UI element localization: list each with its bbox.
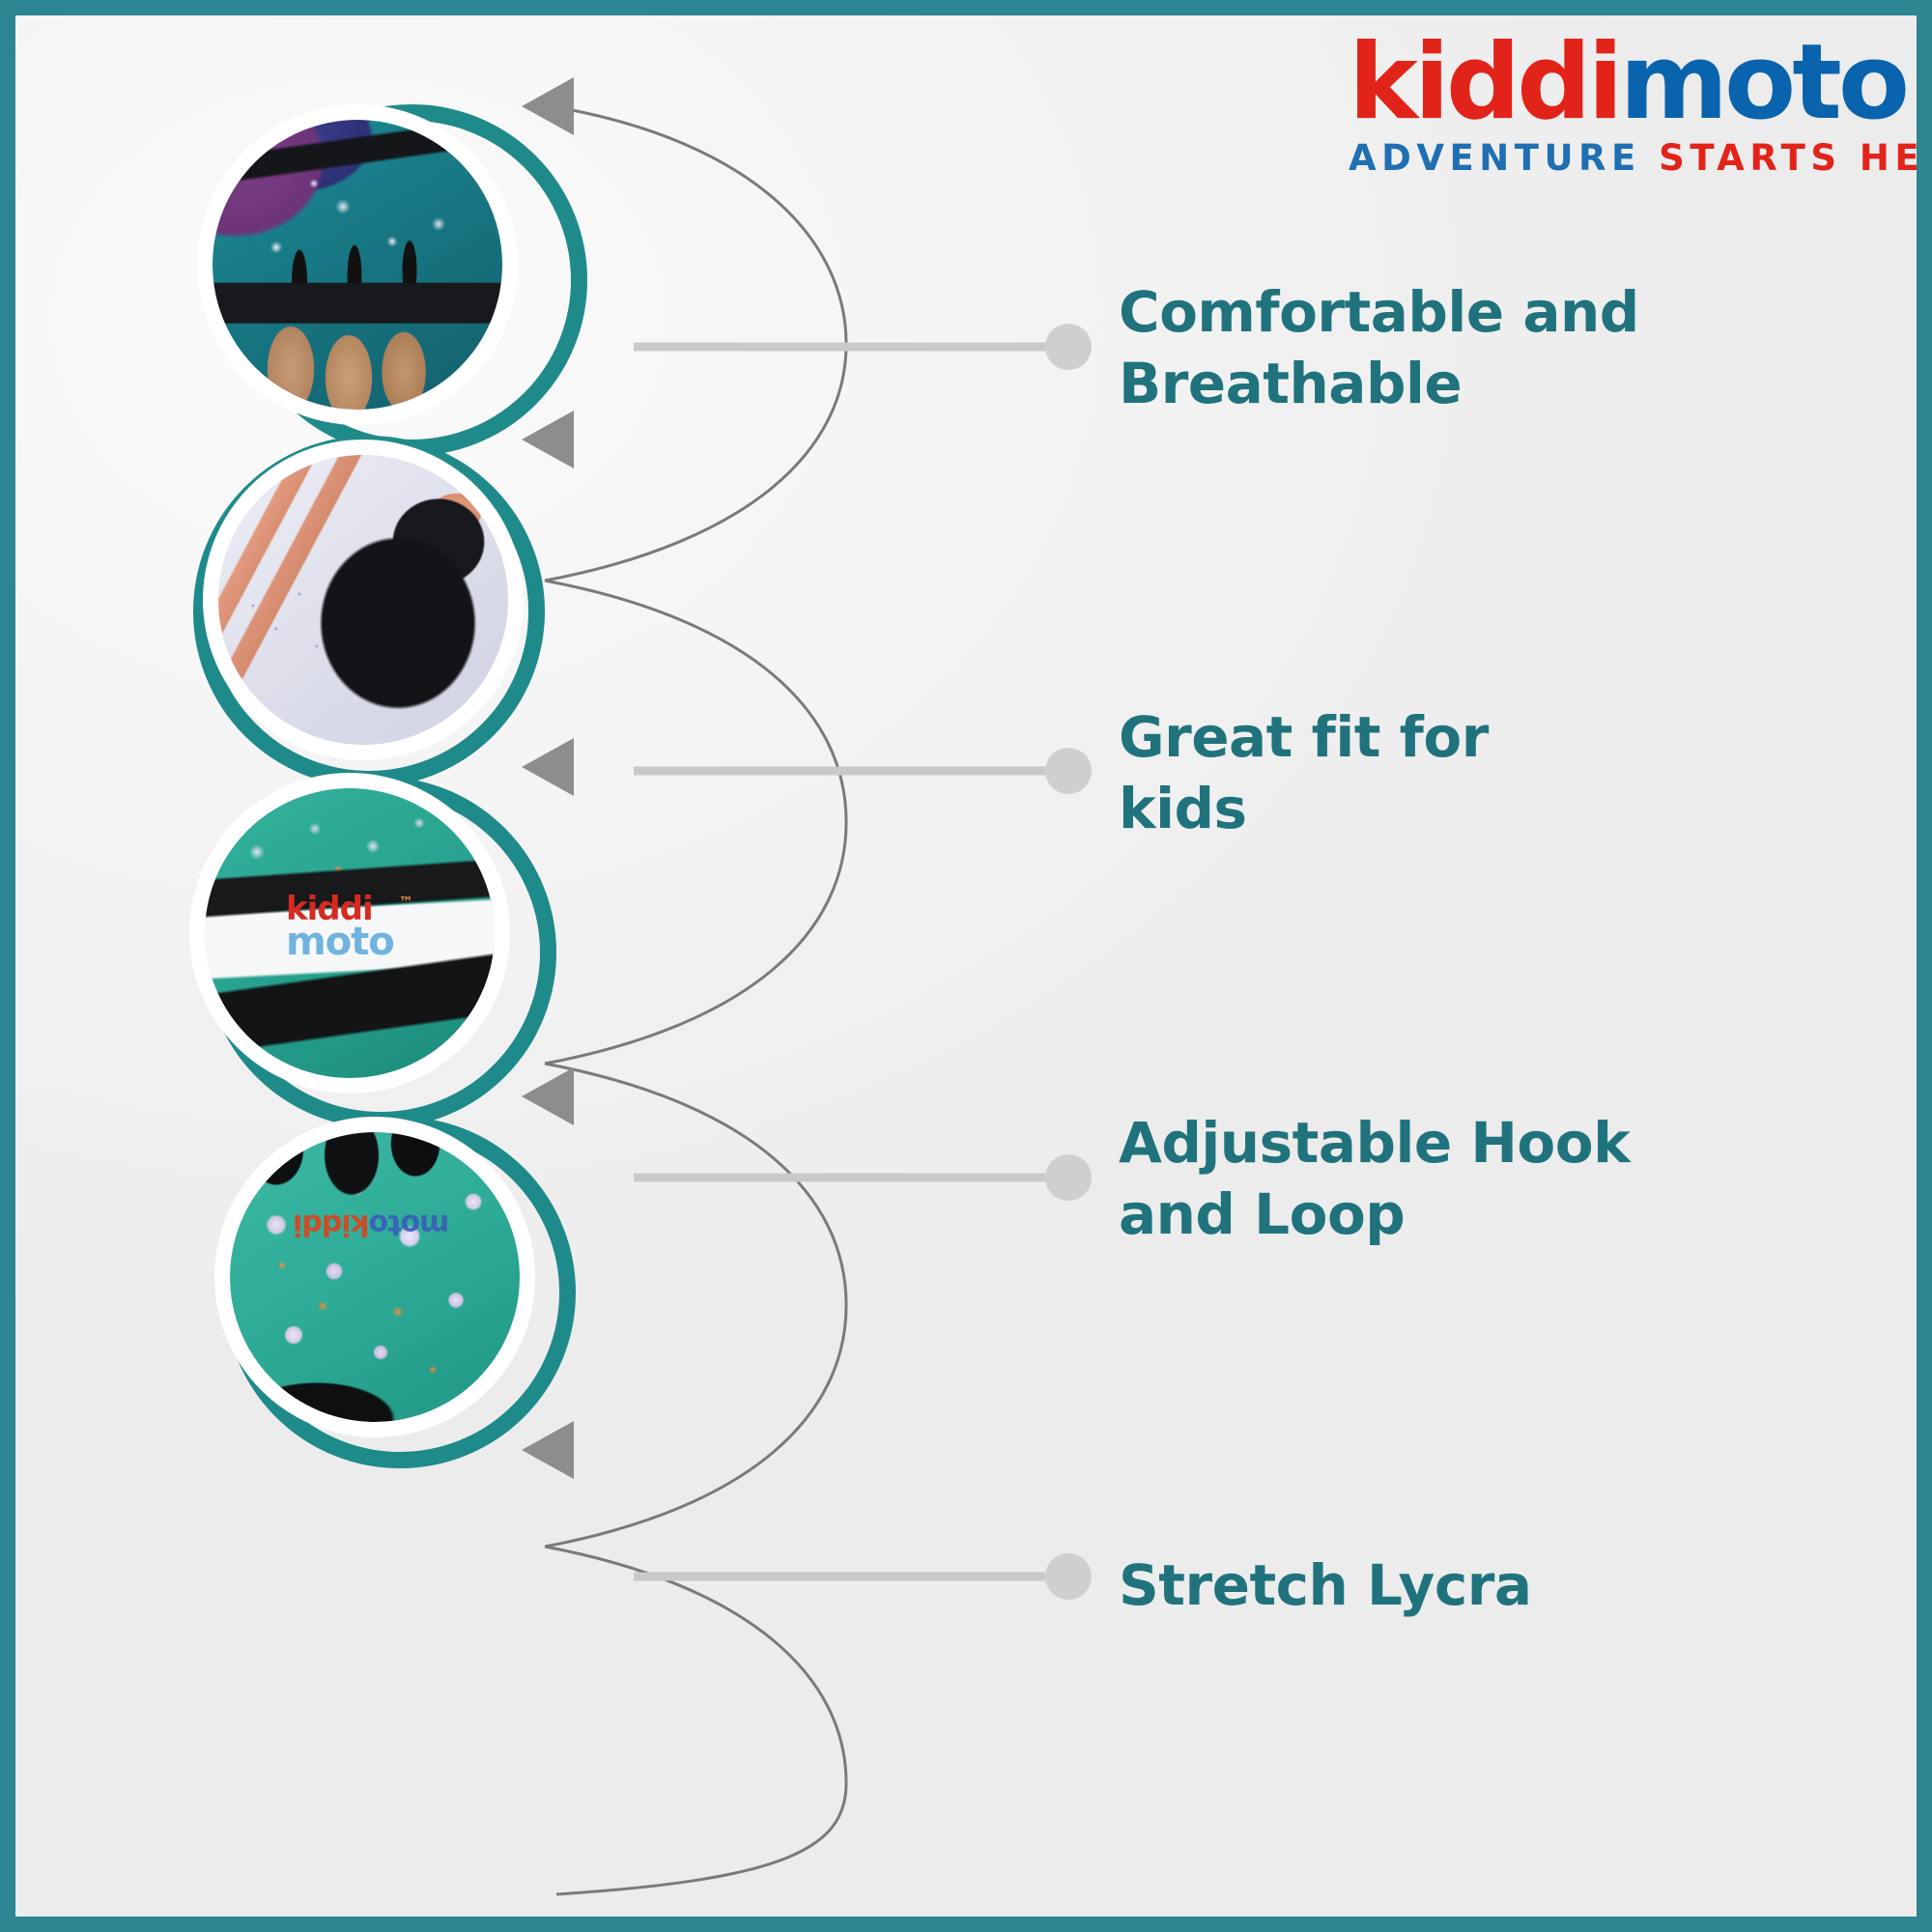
infographic-canvas: kiddimoto ADVENTURE STARTS HERE <box>0 0 1932 1932</box>
feature-photo-3: kiddi moto ™ <box>205 788 495 1078</box>
arc-3 <box>545 1064 846 1547</box>
arrowhead-5 <box>522 1421 574 1479</box>
feature-label-stretch-lycra: Stretch Lycra <box>1119 1549 1737 1621</box>
embroidered-logo: motokiddi <box>294 1207 449 1241</box>
arrowhead-2 <box>522 411 574 469</box>
feature-photo-1-image <box>213 120 502 410</box>
embroidered-logo-moto: moto <box>369 1207 449 1241</box>
feature-photo-1 <box>213 120 502 410</box>
arc-4 <box>545 1547 846 1894</box>
embroidered-logo-kiddi: kiddi <box>294 1207 369 1241</box>
feature-photo-4: motokiddi <box>230 1132 520 1422</box>
leader-dot-3 <box>1045 1154 1092 1201</box>
feature-photo-4-image <box>230 1132 520 1422</box>
arrowhead-1 <box>522 77 574 135</box>
leader-dot-2 <box>1045 748 1092 794</box>
glove-brand-tag-moto: moto <box>286 924 394 960</box>
glove-brand-tag: kiddi moto ™ <box>286 895 394 960</box>
arrowhead-3 <box>522 738 574 796</box>
feature-label-great-fit-for-kids: Great fit for kids <box>1119 701 1737 844</box>
infographic-inner-panel: kiddimoto ADVENTURE STARTS HERE <box>15 15 1917 1917</box>
feature-label-comfortable-breathable: Comfortable and Breathable <box>1119 276 1737 419</box>
feature-photo-2-image <box>218 455 508 745</box>
leader-dot-4 <box>1045 1553 1092 1600</box>
feature-photo-2 <box>218 455 508 745</box>
feature-label-adjustable-hook-and-loop: Adjustable Hook and Loop <box>1119 1107 1737 1250</box>
leader-dot-1 <box>1045 324 1092 370</box>
trademark-symbol: ™ <box>399 896 413 910</box>
arrowhead-4 <box>522 1067 574 1125</box>
arc-2 <box>545 581 846 1064</box>
